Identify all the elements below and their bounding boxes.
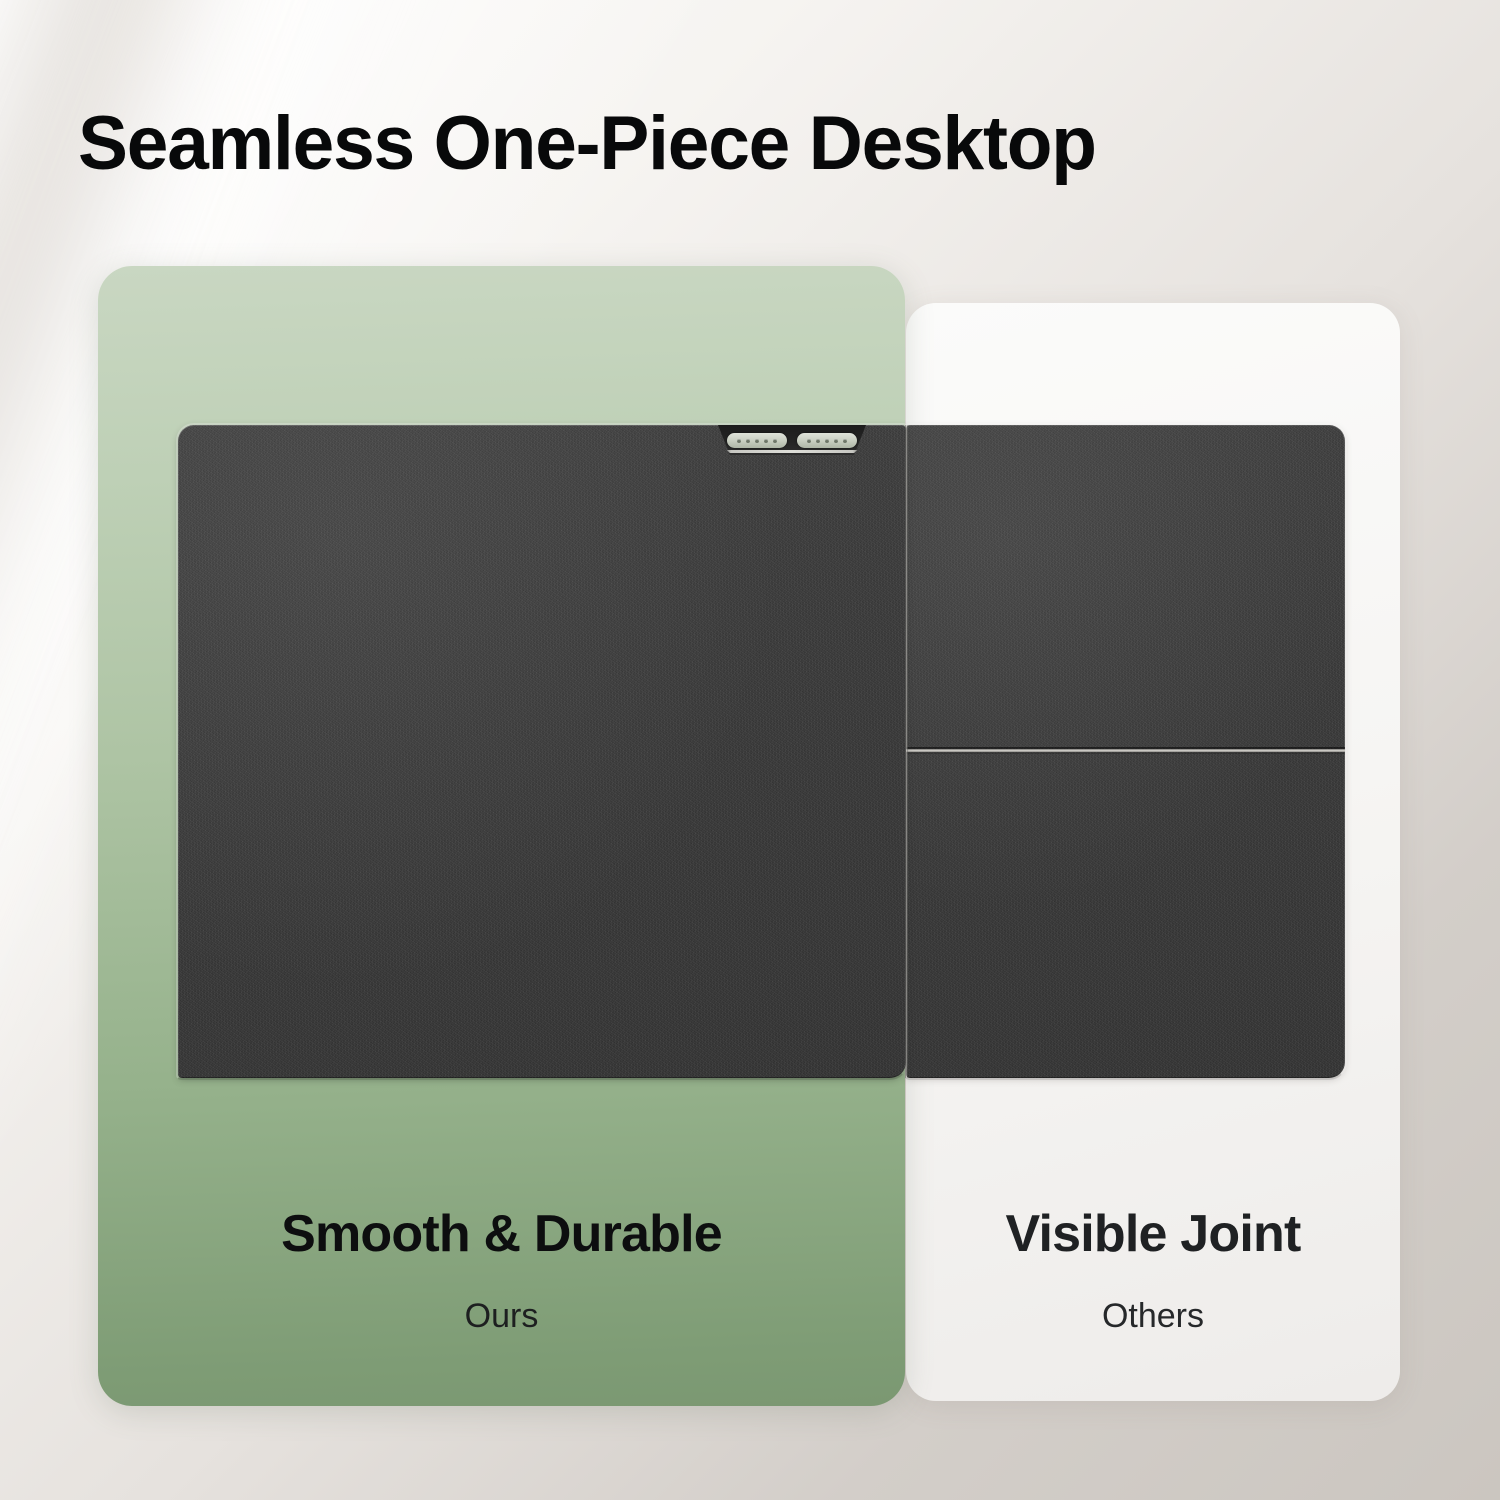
infographic-canvas: Seamless One-Piece Desktop <box>0 0 1500 1500</box>
port-recess-lip <box>718 450 866 453</box>
port-pin <box>825 439 829 443</box>
port-pin <box>755 439 759 443</box>
port-pin <box>807 439 811 443</box>
port-pin <box>737 439 741 443</box>
port-pin <box>834 439 838 443</box>
cable-port-notch <box>718 425 866 455</box>
caption-headline-ours: Smooth & Durable <box>98 1204 905 1264</box>
cable-port-icon-2 <box>797 433 857 448</box>
port-pin <box>773 439 777 443</box>
slab-edge-divider <box>905 425 908 1078</box>
caption-headline-others: Visible Joint <box>906 1204 1400 1264</box>
caption-subtitle-ours: Ours <box>98 1297 905 1336</box>
cable-port-icon-1 <box>727 433 787 448</box>
port-pin <box>843 439 847 443</box>
port-pin <box>816 439 820 443</box>
caption-subtitle-others: Others <box>906 1297 1400 1336</box>
port-pin <box>764 439 768 443</box>
desktop-surface-others <box>906 425 1345 1078</box>
port-pin <box>746 439 750 443</box>
desktop-surface-ours <box>178 425 906 1078</box>
page-title: Seamless One-Piece Desktop <box>78 100 1427 187</box>
visible-joint-seam <box>906 747 1345 754</box>
